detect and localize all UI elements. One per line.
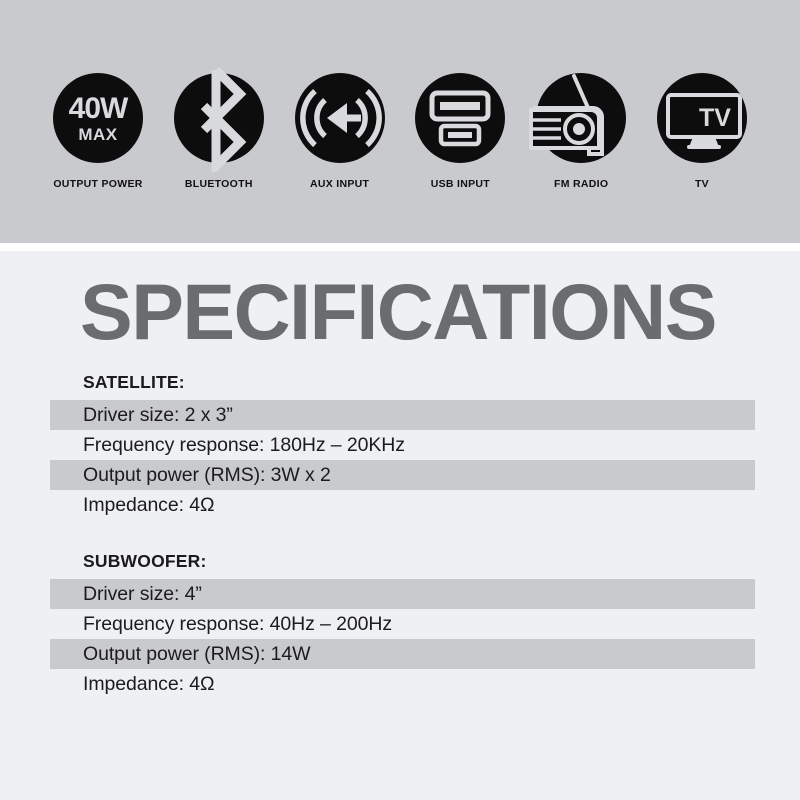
fm-radio-icon <box>536 73 626 163</box>
spec-row-text: Impedance: 4Ω <box>0 673 214 696</box>
feature-label-fm-radio: FM RADIO <box>554 178 608 190</box>
feature-item-aux-input: AUX INPUT <box>280 73 400 190</box>
spec-row-text: Output power (RMS): 3W x 2 <box>0 464 331 487</box>
feature-label-bluetooth: BLUETOOTH <box>185 178 253 190</box>
feature-label-tv: TV <box>695 178 709 190</box>
spec-row: Driver size: 4” <box>0 579 800 609</box>
spec-row-text: Output power (RMS): 14W <box>0 643 310 666</box>
feature-label-aux-input: AUX INPUT <box>310 178 369 190</box>
tv-screen-icon: TV <box>657 73 747 163</box>
page-title: SPECIFICATIONS <box>80 272 716 351</box>
spec-row: Output power (RMS): 3W x 2 <box>0 460 800 490</box>
spec-group-satellite: SATELLITE: Driver size: 2 x 3” Frequency… <box>0 372 800 520</box>
group-spacer <box>0 520 800 551</box>
bluetooth-icon <box>174 73 264 163</box>
spec-row: Impedance: 4Ω <box>0 490 800 520</box>
tv-screen-text: TV <box>699 104 731 132</box>
watt-badge-icon: 40W MAX <box>53 73 143 163</box>
feature-icon-strip: 40W MAX OUTPUT POWER BLUETOOTH <box>0 0 800 243</box>
feature-item-tv: TV TV <box>642 73 762 190</box>
spec-group-subwoofer: SUBWOOFER: Driver size: 4” Frequency res… <box>0 551 800 699</box>
header-separator <box>0 243 800 251</box>
spec-row-text: Impedance: 4Ω <box>0 494 214 517</box>
spec-row: Frequency response: 180Hz – 20KHz <box>0 430 800 460</box>
feature-label-output-power: OUTPUT POWER <box>53 178 142 190</box>
spec-group-heading-satellite: SATELLITE: <box>0 372 800 400</box>
feature-item-usb-input: USB INPUT <box>400 73 520 190</box>
feature-item-output-power: 40W MAX OUTPUT POWER <box>38 73 158 190</box>
aux-soundwave-icon <box>295 73 385 163</box>
spec-group-heading-subwoofer: SUBWOOFER: <box>0 551 800 579</box>
feature-item-fm-radio: FM RADIO <box>521 73 641 190</box>
specification-groups: SATELLITE: Driver size: 2 x 3” Frequency… <box>0 372 800 699</box>
spec-row-text: Frequency response: 180Hz – 20KHz <box>0 434 405 457</box>
feature-item-bluetooth: BLUETOOTH <box>159 73 279 190</box>
usb-port-icon <box>415 73 505 163</box>
spec-row: Frequency response: 40Hz – 200Hz <box>0 609 800 639</box>
watt-value: 40W <box>69 94 128 124</box>
spec-row: Output power (RMS): 14W <box>0 639 800 669</box>
spec-row-text: Frequency response: 40Hz – 200Hz <box>0 613 392 636</box>
spec-row: Impedance: 4Ω <box>0 669 800 699</box>
spec-row-text: Driver size: 2 x 3” <box>0 404 233 427</box>
feature-label-usb-input: USB INPUT <box>431 178 490 190</box>
watt-suffix: MAX <box>78 126 117 143</box>
spec-row: Driver size: 2 x 3” <box>0 400 800 430</box>
spec-row-text: Driver size: 4” <box>0 583 202 606</box>
